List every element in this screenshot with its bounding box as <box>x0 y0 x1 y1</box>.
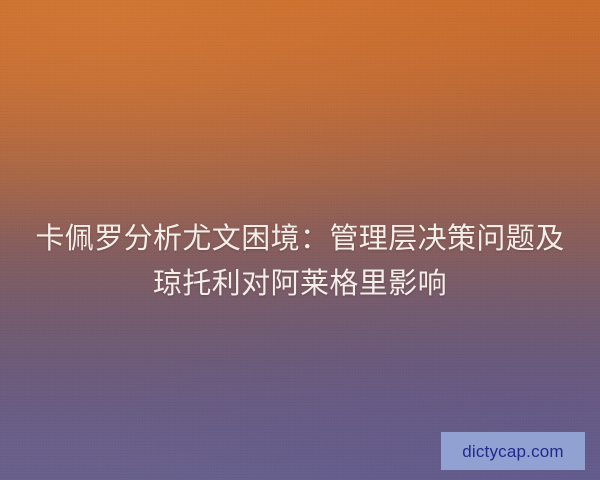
watermark-label: dictycap.com <box>462 443 564 460</box>
watermark-badge: dictycap.com <box>441 432 585 470</box>
article-cover-card: 卡佩罗分析尤文困境：管理层决策问题及 琼托利对阿莱格里影响 dictycap.c… <box>0 0 600 480</box>
cover-title: 卡佩罗分析尤文困境：管理层决策问题及 琼托利对阿莱格里影响 <box>0 217 600 307</box>
